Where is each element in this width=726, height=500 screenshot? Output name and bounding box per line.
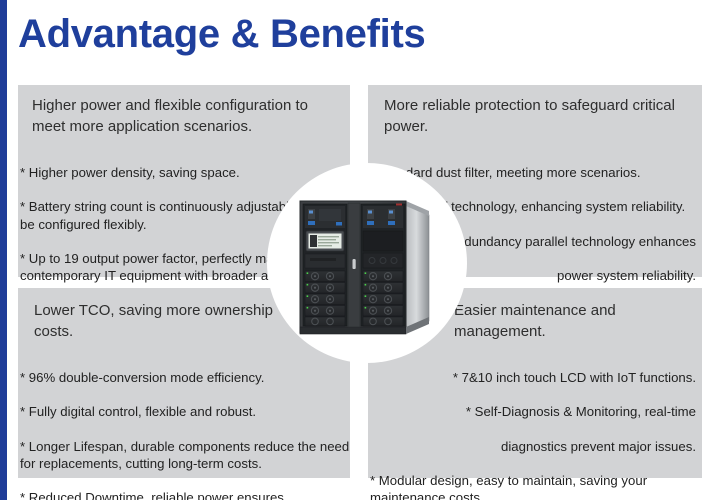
bullet-item: * 7&10 inch touch LCD with IoT functions… bbox=[370, 369, 702, 386]
panel-heading-bottom-right: Easier maintenance and management. bbox=[454, 301, 694, 342]
page-title: Advantage & Benefits bbox=[18, 12, 425, 56]
left-accent-bar bbox=[0, 0, 7, 500]
bullet-item: * 96% double-conversion mode efficiency. bbox=[20, 369, 350, 386]
slide-root: Advantage & Benefits Higher power and fl… bbox=[0, 0, 726, 500]
bullet-item: * Reduced Downtime, reliable power ensur… bbox=[20, 489, 350, 500]
panel-heading-top-left: Higher power and flexible configuration … bbox=[32, 96, 337, 137]
panel-body-bottom-right: * 7&10 inch touch LCD with IoT functions… bbox=[370, 352, 702, 500]
bullet-item: * Modular design, easy to maintain, savi… bbox=[370, 472, 702, 500]
bullet-item: * Longer Lifespan, durable components re… bbox=[20, 438, 350, 472]
panel-body-bottom-left: * 96% double-conversion mode efficiency.… bbox=[20, 352, 350, 500]
panel-heading-top-right: More reliable protection to safeguard cr… bbox=[384, 96, 694, 137]
panel-heading-bottom-left: Lower TCO, saving more ownership costs. bbox=[34, 301, 294, 342]
bullet-item: * Higher power density, saving space. bbox=[20, 164, 350, 181]
bullet-item: * Self-Diagnosis & Monitoring, real-time bbox=[370, 403, 702, 420]
ups-cabinet-image bbox=[288, 193, 438, 343]
bullet-item-cont: diagnostics prevent major issues. bbox=[370, 438, 702, 455]
bullet-item: * Fully digital control, flexible and ro… bbox=[20, 403, 350, 420]
